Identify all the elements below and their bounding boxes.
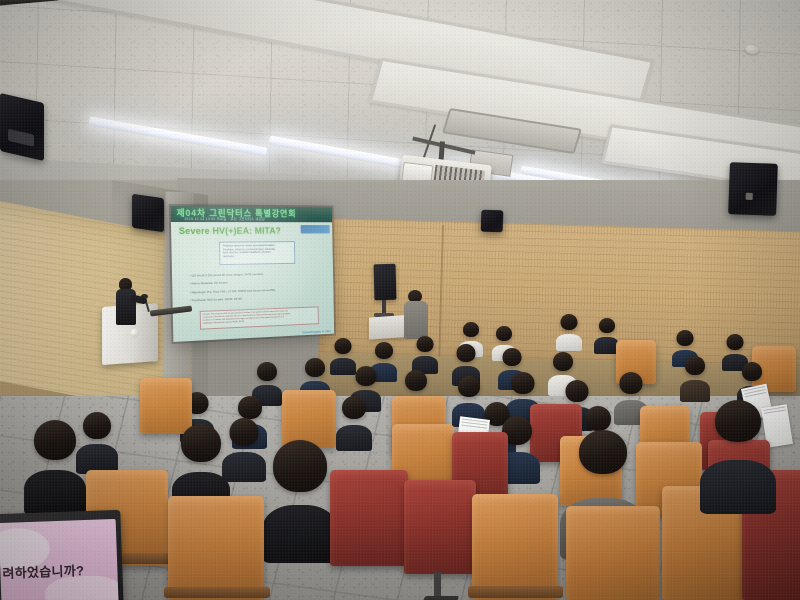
person-head xyxy=(496,326,512,341)
seat-back xyxy=(566,506,660,600)
seat-foreground xyxy=(404,480,476,574)
seat-pedestal xyxy=(434,572,441,598)
audience-person-foreground xyxy=(24,420,86,506)
person-head xyxy=(620,372,643,394)
seat-armrest xyxy=(164,587,270,598)
slide-title: Severe HV(+)EA: MITA? xyxy=(179,226,281,237)
person-shoulders xyxy=(680,380,710,402)
seat-back xyxy=(404,480,476,574)
audience-person xyxy=(556,314,582,348)
speaker-cone xyxy=(8,129,34,147)
seat-back xyxy=(330,470,408,566)
person-head xyxy=(355,366,376,386)
person-head xyxy=(599,318,615,333)
person-head xyxy=(335,338,352,354)
stage-monitor-stand xyxy=(382,300,386,314)
person-head xyxy=(417,336,434,352)
projected-slide: 제04차 그린닥터스 특별강연회 2019.12.14 13:00 토요일 · … xyxy=(171,206,335,342)
person-head xyxy=(463,322,479,337)
seat-back xyxy=(472,494,558,600)
person-shoulders xyxy=(556,334,582,352)
slide-bullet-list: 110 (mod) 2 (%) period 20 (mod design), … xyxy=(189,269,325,305)
person-head xyxy=(305,358,325,377)
seat-foreground xyxy=(566,506,660,600)
person-head xyxy=(742,362,762,381)
person-head xyxy=(677,330,694,346)
person-head xyxy=(727,334,744,350)
person-head xyxy=(553,352,573,371)
person-head xyxy=(585,406,611,431)
seat-back xyxy=(168,496,264,600)
projection-screen: 제04차 그린닥터스 특별강연회 2019.12.14 13:00 토요일 · … xyxy=(171,206,335,342)
presenter-at-podium xyxy=(116,278,138,324)
person-shoulders xyxy=(336,425,372,451)
seat-foreground xyxy=(330,470,408,566)
monitor-screen-text: 려하었습니까? xyxy=(2,560,84,582)
speaker-badge xyxy=(746,193,753,200)
person-head xyxy=(685,356,705,375)
person-head xyxy=(457,344,476,362)
person-head xyxy=(566,380,589,402)
wall-speaker-left-upper xyxy=(0,93,44,161)
person-head xyxy=(561,314,578,330)
callout-line: declination xyxy=(223,254,292,258)
audience-person-foreground xyxy=(700,400,776,504)
slide-callout-box: Predictive factors for severe penetratio… xyxy=(219,241,295,265)
person-head xyxy=(375,342,393,359)
audience-person-foreground xyxy=(172,424,230,506)
person-head xyxy=(503,348,522,366)
person-head xyxy=(273,440,327,492)
person-head xyxy=(458,376,480,397)
stage-monitor xyxy=(374,264,397,301)
wall-speaker-left-lower xyxy=(132,194,164,232)
audience-person xyxy=(336,396,372,446)
person-head xyxy=(34,420,76,460)
slide-logo-icon xyxy=(301,225,330,233)
banner-subtitle: 2019.12.14 13:00 토요일 · 부산 그린닥터스 대강당 xyxy=(184,216,265,221)
person-head xyxy=(230,418,259,446)
wall-speaker-center xyxy=(481,210,504,233)
seat-foreground xyxy=(168,496,264,600)
person-head xyxy=(405,370,427,391)
audience-person xyxy=(680,356,710,398)
wall-speaker-right xyxy=(728,162,778,216)
audience-person xyxy=(412,336,438,371)
seat-foreground xyxy=(472,494,558,600)
person-head xyxy=(715,400,761,442)
slide-footnote-box: Caveats: This study enrolled the post-op… xyxy=(200,306,319,329)
slide-citation: Clinical Podiatric H. 1921 xyxy=(302,329,331,334)
seat-foot xyxy=(423,596,459,600)
side-display-monitor: 려하었습니까? xyxy=(0,510,124,600)
person-shoulders xyxy=(262,505,338,563)
person-head xyxy=(238,396,262,419)
person-head xyxy=(579,430,627,474)
person-shoulders xyxy=(700,460,776,514)
person-head xyxy=(257,362,277,381)
seat-armrest xyxy=(468,586,563,598)
monitor-screen: 려하었습니까? xyxy=(0,519,119,600)
person-head xyxy=(181,424,221,462)
person-head xyxy=(83,412,111,439)
av-operator xyxy=(404,290,428,338)
person-head xyxy=(342,396,366,419)
auditorium-photo: 제04차 그린닥터스 특별강연회 2019.12.14 13:00 토요일 · … xyxy=(0,0,800,600)
conference-banner: 제04차 그린닥터스 특별강연회 2019.12.14 13:00 토요일 · … xyxy=(171,206,332,222)
audience-person-foreground xyxy=(262,440,338,552)
operator-torso xyxy=(404,301,428,339)
person-shoulders xyxy=(24,470,86,515)
person-head xyxy=(512,372,535,394)
